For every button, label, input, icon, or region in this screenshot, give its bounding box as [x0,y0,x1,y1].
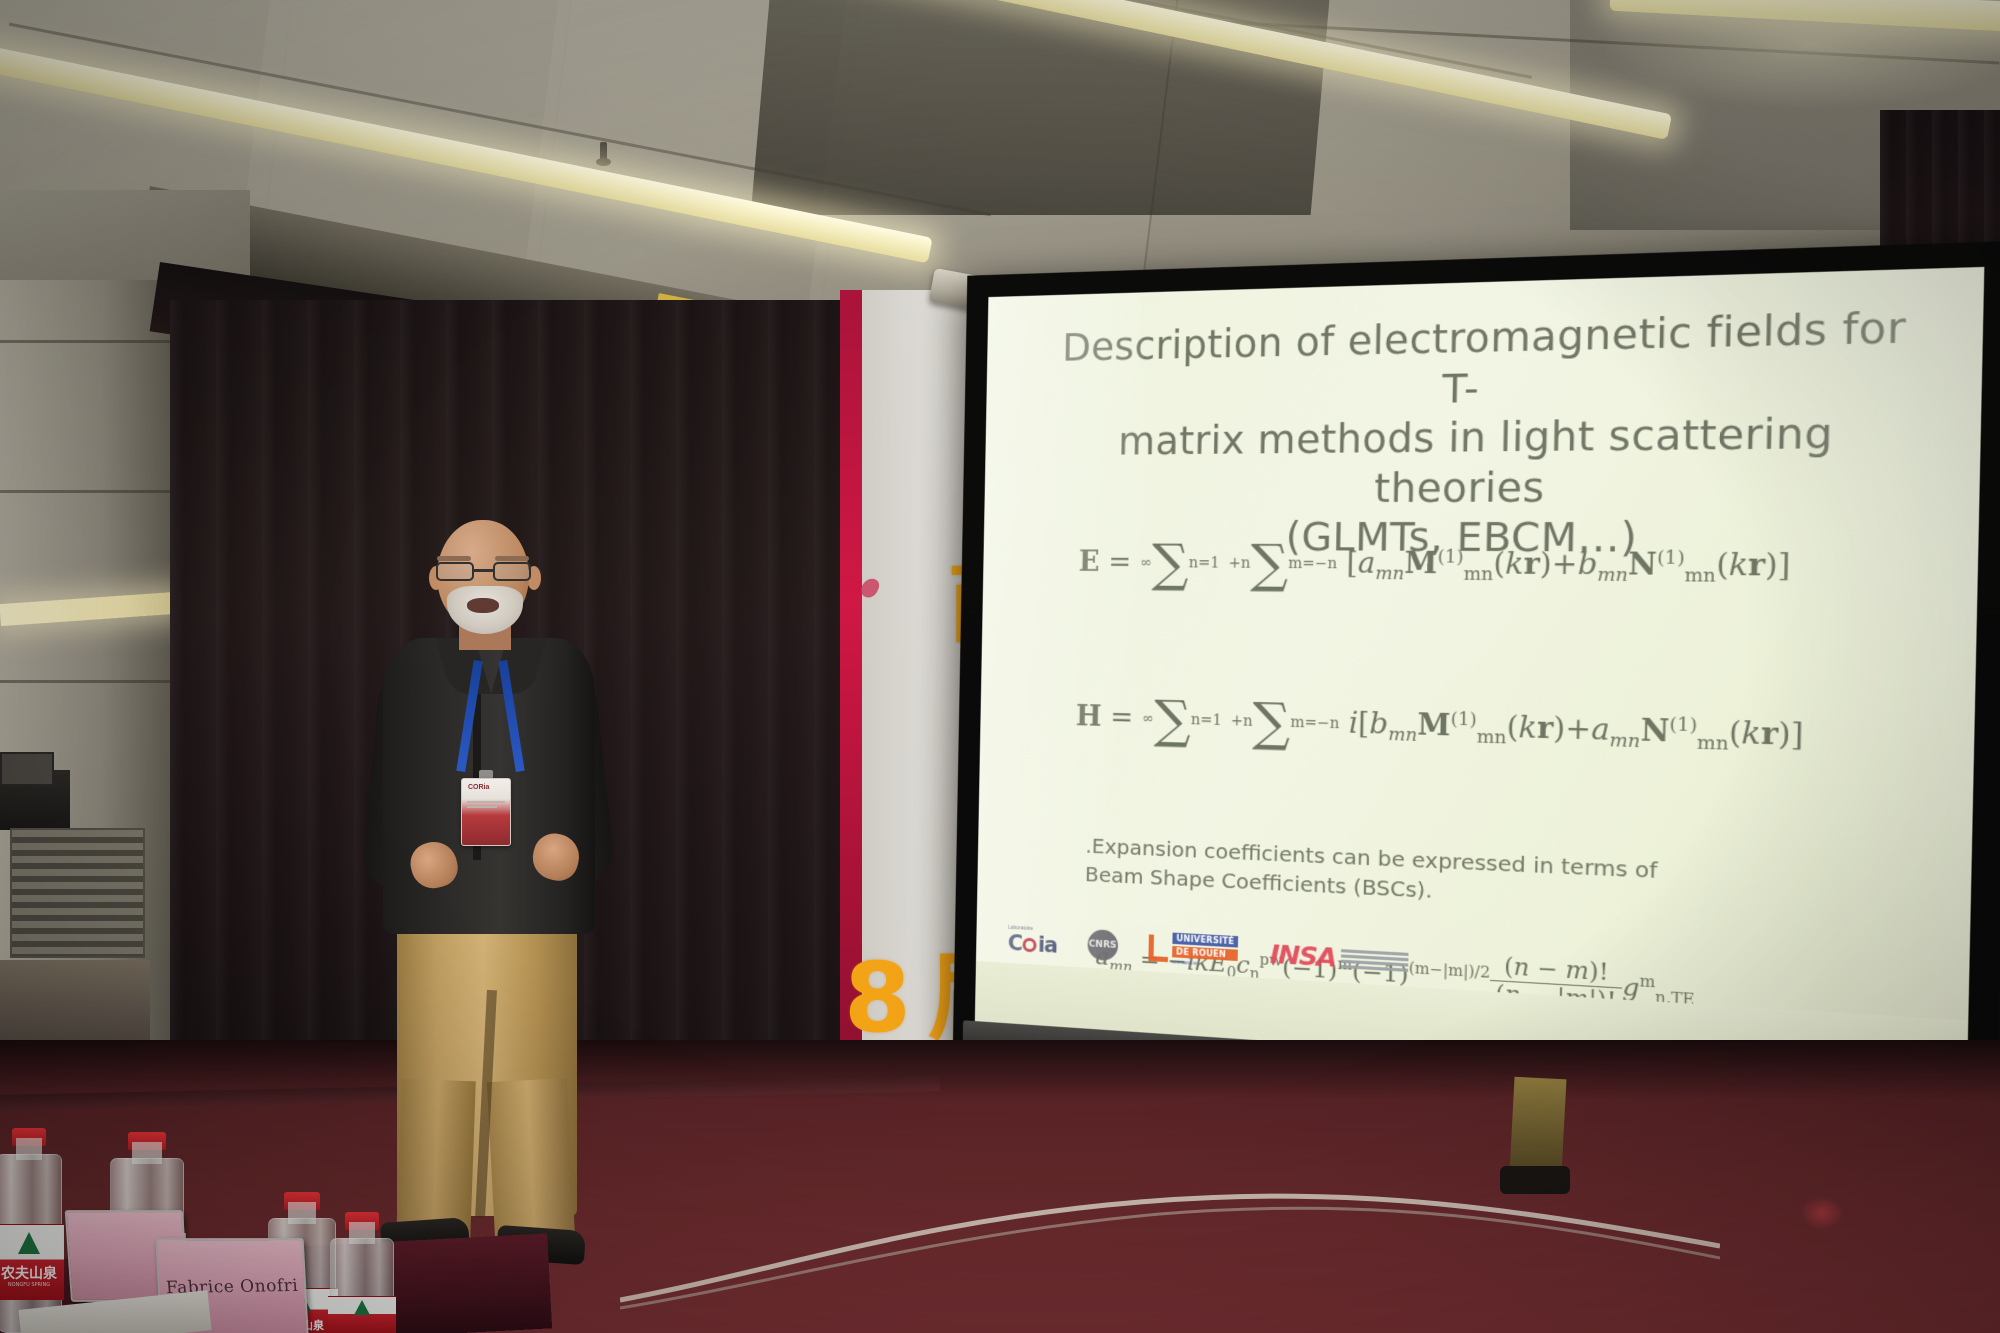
audience-shoe [1500,1166,1570,1194]
bottle-brand-cn: 农夫山泉 [0,1263,64,1283]
conference-room-photo: 西 8 届 专 Description of electromagnetic f… [0,0,2000,1333]
projected-slide: Description of electromagnetic fields fo… [976,267,1984,1020]
floor-reflection [1800,1196,1844,1230]
bottle-label [328,1296,396,1333]
equation-electric-field: E = ∞∑n=1 +n∑m=−n [amnM(1)mn(kr)+bmnN(1)… [1078,544,1791,587]
presenter-left-leg [396,1079,476,1241]
wall-vent [10,828,145,958]
slide-body-text: .Expansion coefficients can be expressed… [1085,831,1780,923]
presenter-mouth [467,598,499,613]
banner-character: 8 [844,950,911,1046]
slide-title-line: matrix methods in light scattering theor… [1050,408,1917,514]
coria-logo: Laboratoire Cia [1008,924,1058,957]
side-monitor [0,752,54,786]
eyeglass-lens [436,562,474,581]
water-bottle [330,1212,394,1333]
projection-screen: Description of electromagnetic fields fo… [953,241,2000,1132]
bottle-tree-logo [354,1300,370,1315]
presenter-eyebrow [495,556,529,561]
presenter-eyebrow [437,556,471,561]
cnrs-logo: CNRS [1087,928,1118,960]
eyeglass-bridge [474,569,493,572]
sprinkler-head [600,142,607,164]
conference-badge: CORia [461,778,511,846]
slide-title-line: Description of electromagnetic fields fo… [1051,303,1918,420]
water-bottle: 农夫山泉 NONGFU SPRING [0,1128,62,1333]
bottle-brand-en: NONGFU SPRING [0,1282,64,1288]
equation-magnetic-field: H = ∞∑n=1 +n∑m=−n i[bmnM(1)mn(kr)+amnN(1… [1075,699,1803,757]
presenter: CORia [355,520,655,1240]
bottle-label: 农夫山泉 NONGFU SPRING [0,1224,64,1300]
bottle-tree-logo [18,1232,40,1254]
audience-leg [1510,1077,1567,1176]
rouen-logo: UNIVERSITÉ DE ROUEN NORMANDIE [1148,931,1238,968]
eyeglass-lens [493,562,531,581]
slide-content: Description of electromagnetic fields fo… [976,267,1984,1020]
presenter-right-leg [487,1078,575,1242]
eyeglasses [435,562,533,582]
slide-title: Description of electromagnetic fields fo… [1031,302,1941,566]
